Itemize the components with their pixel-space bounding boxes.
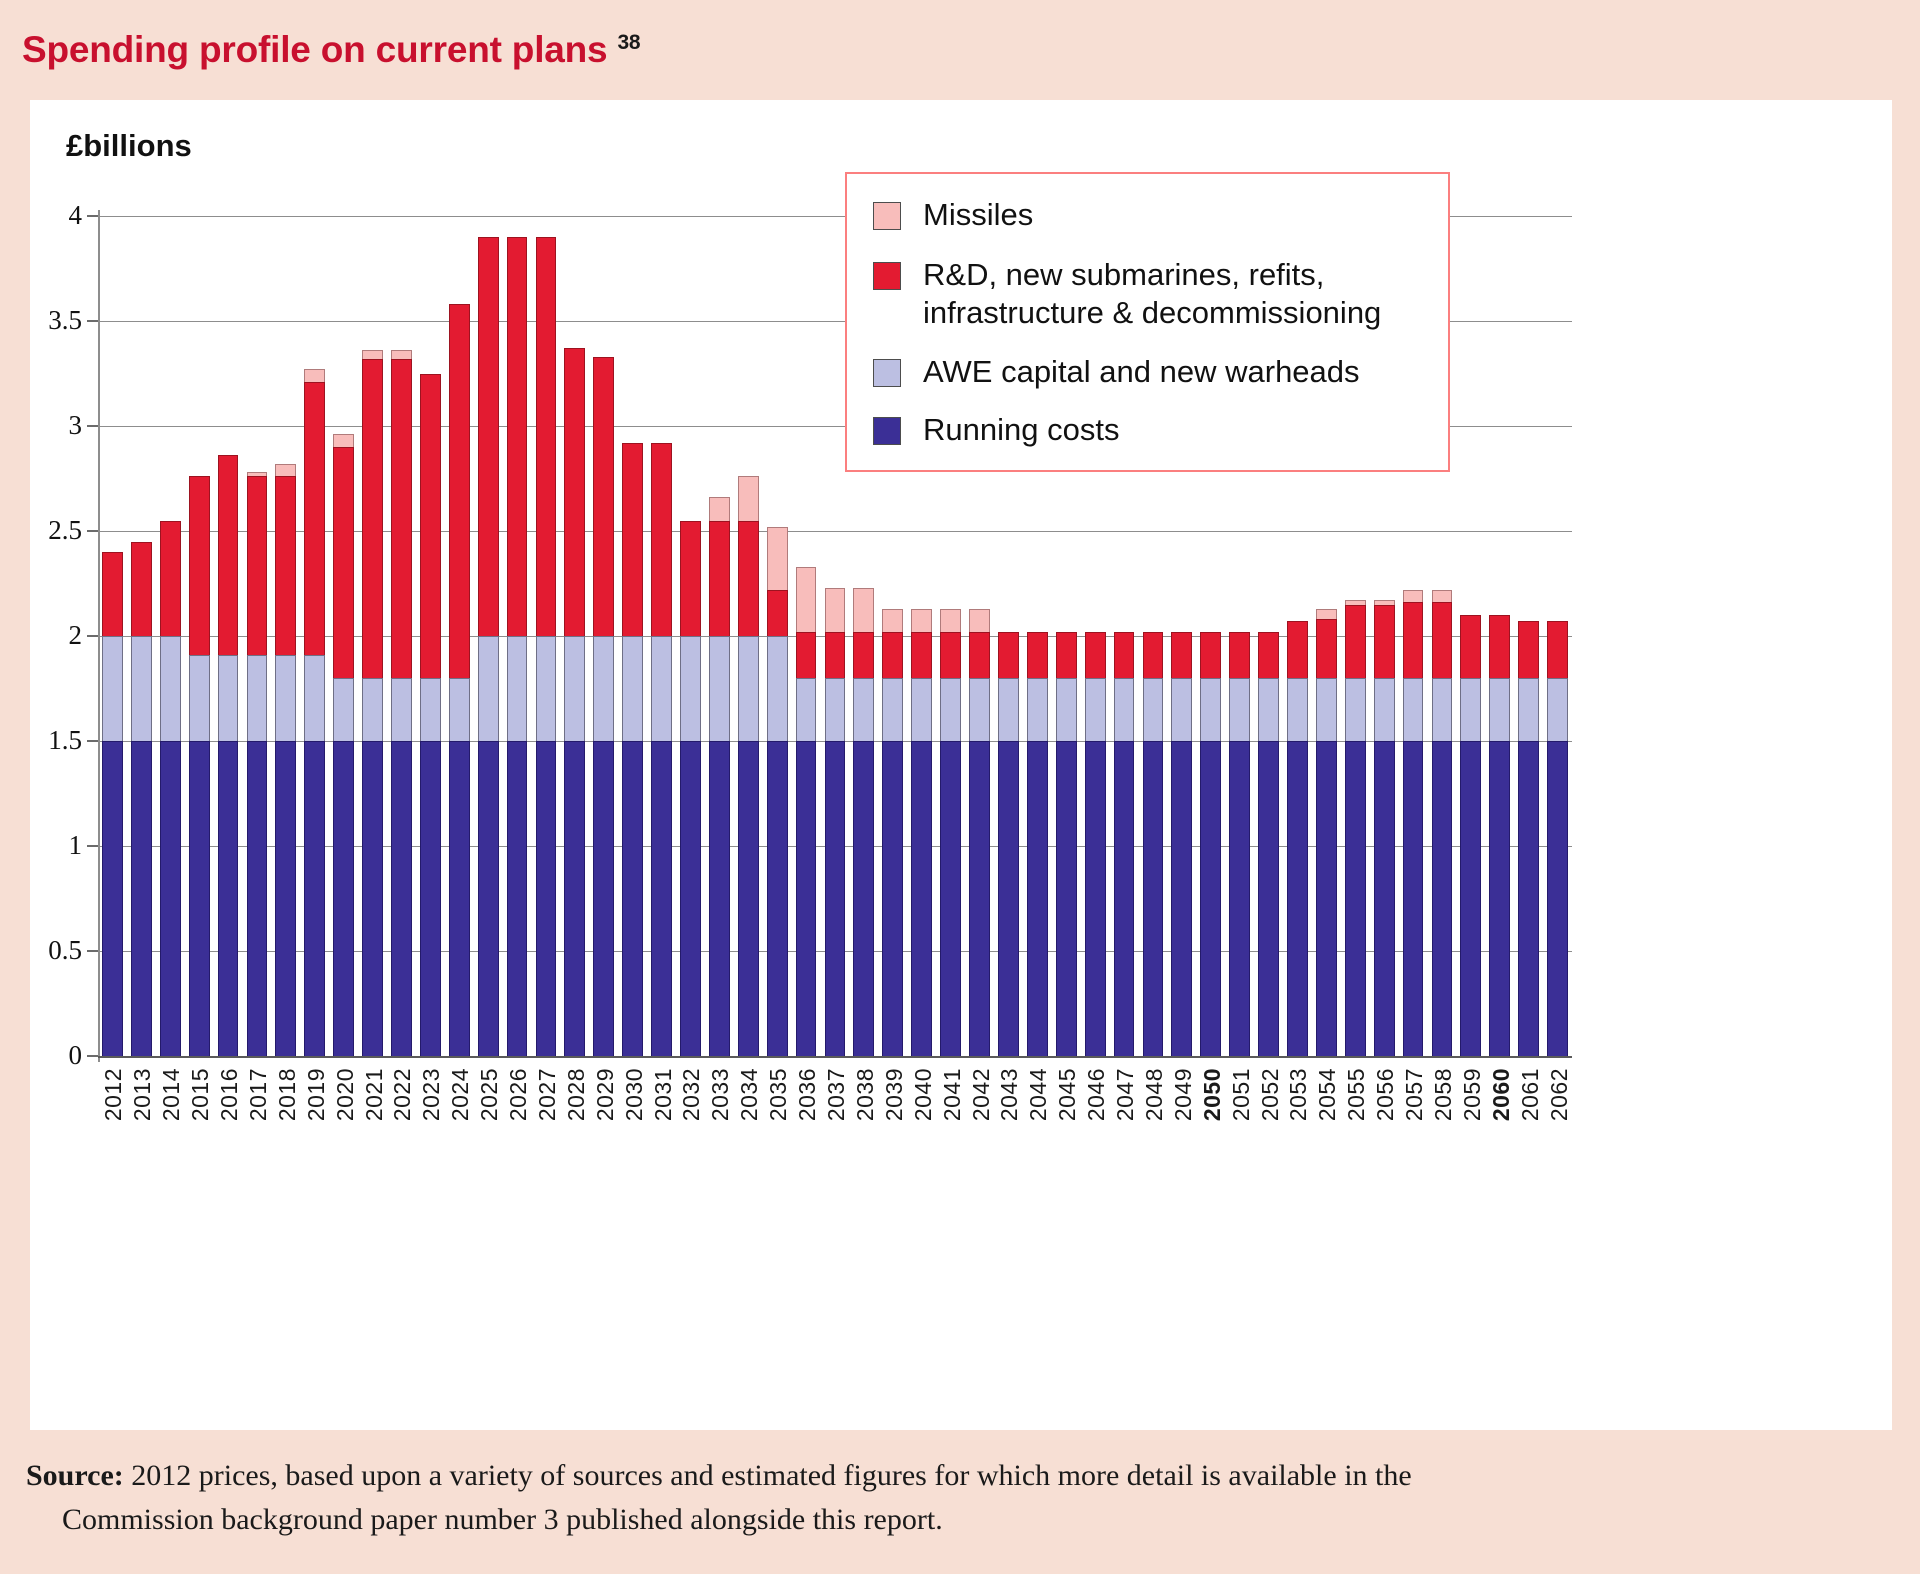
bar-segment-rd [1345,605,1366,679]
legend-label-running: Running costs [923,411,1119,449]
bar-segment-missiles [796,567,817,632]
bar-segment-awe [131,636,152,741]
bar-segment-awe [478,636,499,741]
bar-segment-running [1518,741,1539,1056]
bar-segment-rd [1114,632,1135,678]
bar-segment-rd [1200,632,1221,678]
bar-segment-running [333,741,354,1056]
bar-segment-rd [449,304,470,678]
x-axis-tick-label: 2047 [1112,1068,1139,1121]
legend-item-missiles: Missiles [873,196,1448,234]
y-axis-tick-label: 1.5 [30,725,82,756]
bar-column [1460,615,1481,1056]
bar-segment-running [796,741,817,1056]
bar-segment-awe [507,636,528,741]
bar-segment-rd [1374,605,1395,679]
x-axis-tick-label: 2022 [389,1068,416,1121]
bar-segment-running [420,741,441,1056]
bar-segment-running [593,741,614,1056]
y-axis-tick-label: 3 [30,410,82,441]
source-prefix: Source: [26,1459,124,1492]
bar-column [1056,632,1077,1056]
bar-column [680,521,701,1057]
bar-column [1403,590,1424,1056]
bar-segment-awe [333,678,354,741]
bar-column [333,434,354,1056]
source-footer: Source: 2012 prices, based upon a variet… [0,1436,1920,1574]
bar-segment-missiles [940,609,961,632]
bar-segment-missiles [825,588,846,632]
bar-segment-awe [1460,678,1481,741]
bar-column [1316,609,1337,1056]
x-axis-tick-label: 2028 [563,1068,590,1121]
bar-segment-running [1432,741,1453,1056]
legend-label-missiles: Missiles [923,196,1033,234]
x-axis-tick-label: 2016 [216,1068,243,1121]
bar-segment-awe [738,636,759,741]
bar-column [882,609,903,1056]
bar-segment-running [189,741,210,1056]
bar-segment-awe [622,636,643,741]
x-axis-tick-label: 2033 [707,1068,734,1121]
bar-segment-rd [1316,619,1337,678]
bar-segment-rd [218,455,239,655]
x-axis-tick-label: 2038 [852,1068,879,1121]
bar-segment-awe [1345,678,1366,741]
legend-item-awe: AWE capital and new warheads [873,353,1448,391]
bar-segment-running [940,741,961,1056]
bar-segment-running [1287,741,1308,1056]
bar-segment-running [218,741,239,1056]
title-label: Spending profile on current plans [22,29,607,70]
bar-segment-awe [536,636,557,741]
bar-segment-awe [189,655,210,741]
bar-segment-rd [275,476,296,655]
bar-segment-missiles [333,434,354,447]
bar-segment-missiles [969,609,990,632]
bar-segment-awe [1403,678,1424,741]
bar-column [189,476,210,1056]
bar-segment-running [1403,741,1424,1056]
bar-segment-running [362,741,383,1056]
x-axis-tick-label: 2032 [678,1068,705,1121]
bar-segment-awe [1432,678,1453,741]
bar-segment-rd [362,359,383,678]
bar-segment-running [1027,741,1048,1056]
x-axis-tick-label: 2029 [592,1068,619,1121]
legend-item-rd: R&D, new submarines, refits, infrastruct… [873,256,1448,332]
bar-column [1432,590,1453,1056]
bar-segment-running [391,741,412,1056]
figure-title-bar: Spending profile on current plans38 [0,0,1920,100]
bar-column [940,609,961,1056]
bar-column [911,609,932,1056]
legend-swatch-rd [873,262,901,290]
x-axis-tick-label: 2050 [1199,1068,1226,1121]
x-axis-tick-label: 2013 [129,1068,156,1121]
bar-column [1229,632,1250,1056]
legend-item-running: Running costs [873,411,1448,449]
bar-segment-rd [160,521,181,637]
bar-segment-missiles [1403,590,1424,603]
bar-segment-rd [709,521,730,637]
bar-segment-running [1143,741,1164,1056]
bar-segment-rd [1056,632,1077,678]
x-axis-tick-label: 2023 [418,1068,445,1121]
x-axis-tick-label: 2039 [881,1068,908,1121]
bar-segment-running [160,741,181,1056]
bar-column [709,497,730,1056]
x-axis-tick-label: 2041 [939,1068,966,1121]
bar-segment-rd [825,632,846,678]
bar-segment-missiles [391,350,412,358]
bar-column [449,304,470,1056]
bar-segment-running [1489,741,1510,1056]
bar-segment-running [767,741,788,1056]
bar-segment-rd [102,552,123,636]
bar-segment-running [102,741,123,1056]
bar-segment-running [131,741,152,1056]
bar-segment-rd [507,237,528,636]
bar-segment-missiles [853,588,874,632]
x-axis-line [98,1056,1572,1058]
bar-column [1547,621,1568,1056]
bar-segment-rd [391,359,412,678]
bar-segment-running [1200,741,1221,1056]
bar-segment-running [275,741,296,1056]
bar-segment-awe [1316,678,1337,741]
bar-segment-awe [651,636,672,741]
bar-segment-rd [622,443,643,636]
x-axis-tick-label: 2051 [1228,1068,1255,1121]
bar-segment-rd [680,521,701,637]
x-axis-tick-label: 2035 [765,1068,792,1121]
bar-column [1143,632,1164,1056]
bar-segment-running [304,741,325,1056]
legend-swatch-running [873,417,901,445]
footnote-marker: 38 [617,31,640,54]
bar-segment-rd [1403,602,1424,678]
bar-segment-rd [420,374,441,679]
x-axis-tick-label: 2019 [303,1068,330,1121]
bar-column [1114,632,1135,1056]
bar-segment-awe [420,678,441,741]
bar-segment-rd [1085,632,1106,678]
bar-segment-running [825,741,846,1056]
bar-column [304,369,325,1056]
bar-column [969,609,990,1056]
bar-segment-missiles [738,476,759,520]
bar-segment-rd [1143,632,1164,678]
bar-segment-awe [680,636,701,741]
bar-segment-awe [362,678,383,741]
bar-segment-awe [218,655,239,741]
bar-segment-running [651,741,672,1056]
bar-segment-running [507,741,528,1056]
bar-segment-awe [1547,678,1568,741]
x-axis-tick-label: 2031 [650,1068,677,1121]
bar-segment-rd [1258,632,1279,678]
bar-segment-awe [1229,678,1250,741]
bar-segment-rd [1547,621,1568,678]
bar-column [998,632,1019,1056]
bar-segment-missiles [767,527,788,590]
bar-segment-awe [247,655,268,741]
x-axis-tick-label: 2014 [158,1068,185,1121]
bar-segment-rd [651,443,672,636]
bar-column [825,588,846,1056]
bar-column [160,521,181,1057]
bar-segment-running [449,741,470,1056]
bar-segment-running [1374,741,1395,1056]
bar-column [738,476,759,1056]
x-axis-tick-label: 2046 [1083,1068,1110,1121]
x-axis-tick-label: 2027 [534,1068,561,1121]
y-axis-units-label: £billions [66,128,192,164]
bar-segment-rd [1489,615,1510,678]
legend-label-rd: R&D, new submarines, refits, infrastruct… [923,256,1381,332]
bar-segment-rd [593,357,614,636]
x-axis-tick-label: 2045 [1054,1068,1081,1121]
x-axis-tick-label: 2053 [1285,1068,1312,1121]
bar-segment-running [1460,741,1481,1056]
bar-segment-running [969,741,990,1056]
bar-segment-awe [882,678,903,741]
bar-column [362,350,383,1056]
bar-column [247,472,268,1056]
x-axis-tick-label: 2048 [1141,1068,1168,1121]
bar-segment-awe [1114,678,1135,741]
bar-segment-rd [1287,621,1308,678]
bar-segment-rd [304,382,325,655]
bar-segment-awe [593,636,614,741]
bar-segment-awe [1171,678,1192,741]
source-line-2: Commission background paper number 3 pub… [62,1498,1880,1542]
bar-segment-awe [160,636,181,741]
x-axis-tick-label: 2026 [505,1068,532,1121]
bar-segment-awe [1027,678,1048,741]
x-axis-tick-label: 2052 [1257,1068,1284,1121]
bar-column [102,552,123,1056]
x-axis-tick-label: 2020 [332,1068,359,1121]
bar-segment-missiles [304,369,325,382]
x-axis-tick-label: 2061 [1517,1068,1544,1121]
bar-segment-awe [1200,678,1221,741]
bar-segment-running [1114,741,1135,1056]
bar-segment-running [1316,741,1337,1056]
bar-segment-awe [391,678,412,741]
bar-segment-running [478,741,499,1056]
y-axis-tick-label: 4 [30,200,82,231]
bar-segment-rd [1460,615,1481,678]
x-axis-tick-label: 2057 [1401,1068,1428,1121]
bar-column [275,464,296,1056]
bar-segment-running [1085,741,1106,1056]
x-axis-tick-label: 2034 [736,1068,763,1121]
bar-segment-rd [940,632,961,678]
bar-segment-running [882,741,903,1056]
bar-segment-running [680,741,701,1056]
x-axis-tick-label: 2030 [621,1068,648,1121]
source-text: Source: 2012 prices, based upon a variet… [26,1454,1880,1541]
bar-segment-awe [767,636,788,741]
bar-segment-awe [1258,678,1279,741]
bar-column [767,527,788,1056]
x-axis-tick-label: 2054 [1314,1068,1341,1121]
x-axis-tick-label: 2049 [1170,1068,1197,1121]
bar-segment-running [536,741,557,1056]
bar-segment-awe [796,678,817,741]
bar-column [1374,600,1395,1056]
bar-segment-rd [969,632,990,678]
figure-page: Spending profile on current plans38 £bil… [0,0,1920,1574]
bar-segment-rd [998,632,1019,678]
bar-segment-awe [911,678,932,741]
bar-segment-running [622,741,643,1056]
bar-segment-rd [1518,621,1539,678]
x-axis-tick-label: 2043 [996,1068,1023,1121]
y-axis-tick-label: 0.5 [30,935,82,966]
x-axis-tick-label: 2056 [1372,1068,1399,1121]
bar-segment-awe [1085,678,1106,741]
bar-segment-running [738,741,759,1056]
x-axis-tick-label: 2044 [1025,1068,1052,1121]
bar-segment-running [564,741,585,1056]
y-axis-tick-label: 2 [30,620,82,651]
bar-segment-awe [853,678,874,741]
bar-segment-awe [275,655,296,741]
bar-column [1027,632,1048,1056]
bar-column [651,443,672,1056]
bar-column [1200,632,1221,1056]
bar-segment-missiles [275,464,296,477]
x-axis-tick-label: 2042 [968,1068,995,1121]
legend-swatch-awe [873,359,901,387]
bar-segment-awe [969,678,990,741]
bar-segment-rd [247,476,268,655]
bar-segment-awe [449,678,470,741]
legend-label-awe: AWE capital and new warheads [923,353,1360,391]
bar-segment-awe [1489,678,1510,741]
bar-segment-running [1547,741,1568,1056]
y-axis-tick-label: 1 [30,830,82,861]
bar-segment-rd [1171,632,1192,678]
bar-segment-running [1056,741,1077,1056]
bar-segment-awe [564,636,585,741]
bar-segment-running [1229,741,1250,1056]
bar-segment-rd [1432,602,1453,678]
bar-segment-running [247,741,268,1056]
bar-segment-missiles [1316,609,1337,620]
bar-segment-awe [998,678,1019,741]
bar-segment-rd [911,632,932,678]
y-axis-tick-label: 3.5 [30,305,82,336]
x-axis-tick-label: 2040 [910,1068,937,1121]
x-axis-tick-label: 2024 [447,1068,474,1121]
bar-segment-rd [131,542,152,637]
bar-column [593,357,614,1056]
x-axis-tick-label: 2058 [1430,1068,1457,1121]
bar-column [391,350,412,1056]
bar-segment-running [998,741,1019,1056]
bar-column [1287,621,1308,1056]
bar-column [1171,632,1192,1056]
x-axis-tick-label: 2021 [361,1068,388,1121]
bar-segment-rd [189,476,210,655]
bar-segment-running [709,741,730,1056]
bar-segment-awe [709,636,730,741]
x-axis-tick-label: 2018 [274,1068,301,1121]
x-axis-tick-label: 2015 [187,1068,214,1121]
chart-legend: Missiles R&D, new submarines, refits, in… [845,172,1450,472]
bar-column [1518,621,1539,1056]
page-title: Spending profile on current plans38 [22,29,640,71]
x-axis-tick-label: 2017 [245,1068,272,1121]
bar-column [853,588,874,1056]
bar-column [564,348,585,1056]
bar-segment-missiles [362,350,383,358]
bar-segment-rd [882,632,903,678]
x-axis-tick-label: 2060 [1488,1068,1515,1121]
bar-column [622,443,643,1056]
x-axis-labels: 2012201320142015201620172018201920202021… [98,1068,1572,1228]
x-axis-tick-label: 2012 [100,1068,127,1121]
y-axis-tick-label: 0 [30,1040,82,1071]
bar-column [536,237,557,1056]
bar-column [1489,615,1510,1056]
bar-segment-awe [1056,678,1077,741]
bar-segment-missiles [709,497,730,520]
bar-segment-missiles [911,609,932,632]
bar-segment-rd [796,632,817,678]
bar-column [218,455,239,1056]
bar-segment-rd [1229,632,1250,678]
bar-column [478,237,499,1056]
bar-segment-rd [1027,632,1048,678]
bar-segment-rd [564,348,585,636]
bar-segment-running [1258,741,1279,1056]
x-axis-tick-label: 2037 [823,1068,850,1121]
bar-segment-rd [853,632,874,678]
bar-column [1345,600,1366,1056]
bar-segment-running [1171,741,1192,1056]
bar-column [1085,632,1106,1056]
bar-column [131,542,152,1057]
x-axis-tick-label: 2059 [1459,1068,1486,1121]
bar-segment-missiles [882,609,903,632]
bar-segment-rd [767,590,788,636]
bar-column [507,237,528,1056]
bar-segment-running [853,741,874,1056]
legend-swatch-missiles [873,202,901,230]
bar-segment-awe [825,678,846,741]
chart-panel: £billions 00.511.522.533.54 201220132014… [30,100,1892,1430]
bar-segment-awe [1374,678,1395,741]
bar-segment-awe [102,636,123,741]
bar-segment-running [911,741,932,1056]
bar-segment-awe [940,678,961,741]
bar-column [1258,632,1279,1056]
bar-segment-awe [1287,678,1308,741]
bar-segment-missiles [1432,590,1453,603]
bar-column [420,374,441,1057]
bar-segment-rd [536,237,557,636]
bar-segment-awe [1518,678,1539,741]
bar-column [796,567,817,1056]
y-axis-tick-label: 2.5 [30,515,82,546]
bar-segment-awe [304,655,325,741]
bar-segment-running [1345,741,1366,1056]
